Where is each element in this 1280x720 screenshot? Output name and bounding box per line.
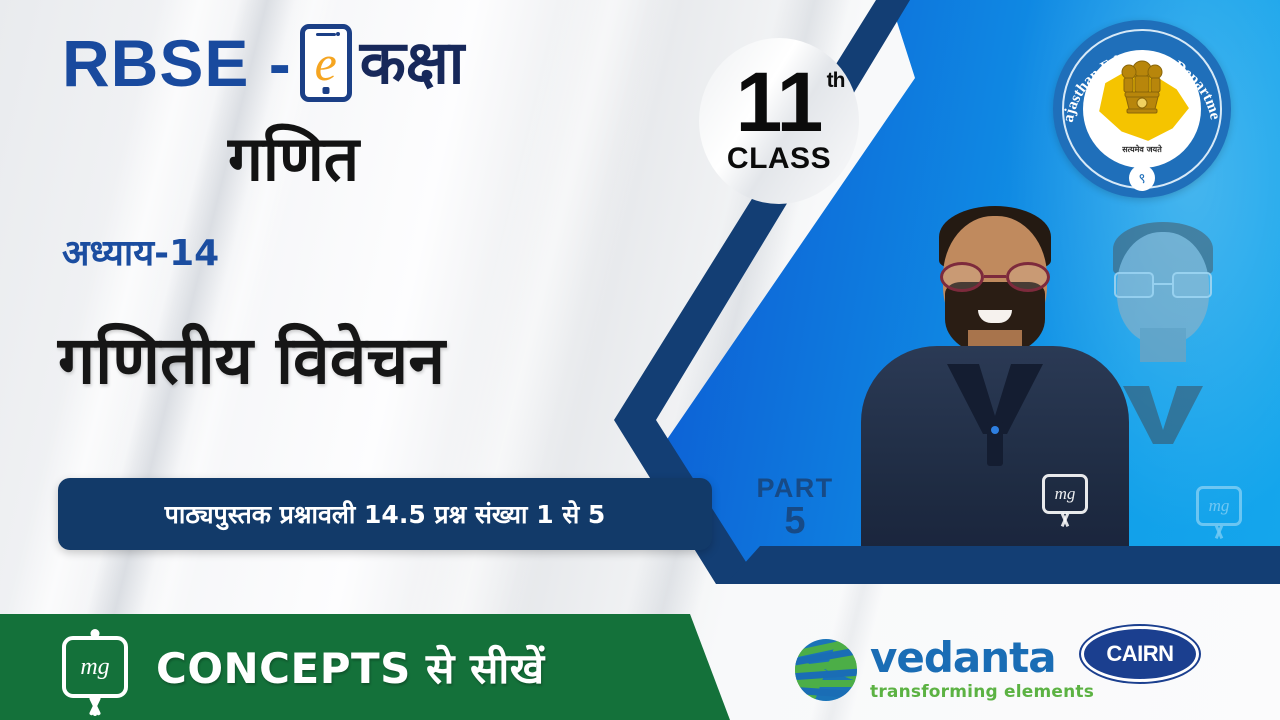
footer-tagline: CONCEPTS से सीखें (156, 639, 545, 696)
mobile-phone-icon: e (300, 24, 352, 102)
class-badge: 11th CLASS (699, 38, 859, 204)
instructor-front-chest-logo-text: mg (1042, 474, 1088, 514)
class-number: 11th (736, 66, 823, 138)
instructor-back-chest-logo-text: mg (1196, 486, 1242, 526)
brand-e-letter: e (309, 38, 343, 87)
rajasthan-education-department-emblem: Rajasthan Education Department सत्य (1053, 20, 1231, 198)
instructor-back-chest-logo: mg (1196, 486, 1242, 526)
part-label: PART (747, 474, 843, 502)
mg-logo-text: mg (62, 636, 128, 698)
instructor-front-glasses-icon (940, 262, 1050, 292)
instructor-front: mg (860, 154, 1130, 584)
page-title: गणितीय विवेचन (58, 320, 445, 403)
vedanta-globe-icon (795, 639, 857, 701)
vedanta-wordmark: vedanta transforming elements (870, 637, 1094, 702)
instructor-panel-bottom-edge (726, 546, 1280, 584)
emblem-bottom-badge: ९ (1129, 165, 1155, 191)
ashoka-lion-capital-icon (1115, 58, 1169, 120)
vedanta-tagline: transforming elements (870, 682, 1094, 702)
cairn-name: CAIRN (1106, 641, 1173, 667)
thumbnail-canvas: mg mg RBSE - (0, 0, 1280, 720)
instructor-front-chest-logo: mg (1042, 474, 1088, 514)
cairn-oval-icon: CAIRN (1081, 626, 1199, 682)
brand-logo: RBSE - e कक्षा (62, 24, 464, 102)
exercise-text: पाठ्यपुस्तक प्रश्नावली 14.5 प्रश्न संख्य… (165, 497, 606, 531)
exercise-banner: पाठ्यपुस्तक प्रश्नावली 14.5 प्रश्न संख्य… (58, 478, 712, 550)
brand-board-name: RBSE - (62, 30, 292, 96)
emblem-motto: सत्यमेव जयते (1083, 144, 1201, 155)
instructor-back-neck (1140, 328, 1186, 362)
brand-kaksha-text: कक्षा (360, 33, 465, 93)
vedanta-logo: vedanta transforming elements (795, 637, 1094, 702)
part-indicator: PART 5 (747, 474, 843, 542)
footer-green-bar: mg CONCEPTS से सीखें (0, 614, 730, 720)
subject-title: गणित (228, 128, 359, 190)
part-number: 5 (747, 502, 843, 542)
emblem-inner-disc: सत्यमेव जयते (1083, 50, 1201, 168)
footer-content: mg CONCEPTS से सीखें (62, 614, 545, 720)
chapter-label: अध्याय-14 (62, 236, 219, 272)
mg-easel-icon: mg (62, 636, 128, 698)
instructor-front-shirt-button (991, 426, 999, 434)
class-superscript: th (827, 72, 845, 90)
vedanta-name: vedanta (870, 637, 1094, 679)
